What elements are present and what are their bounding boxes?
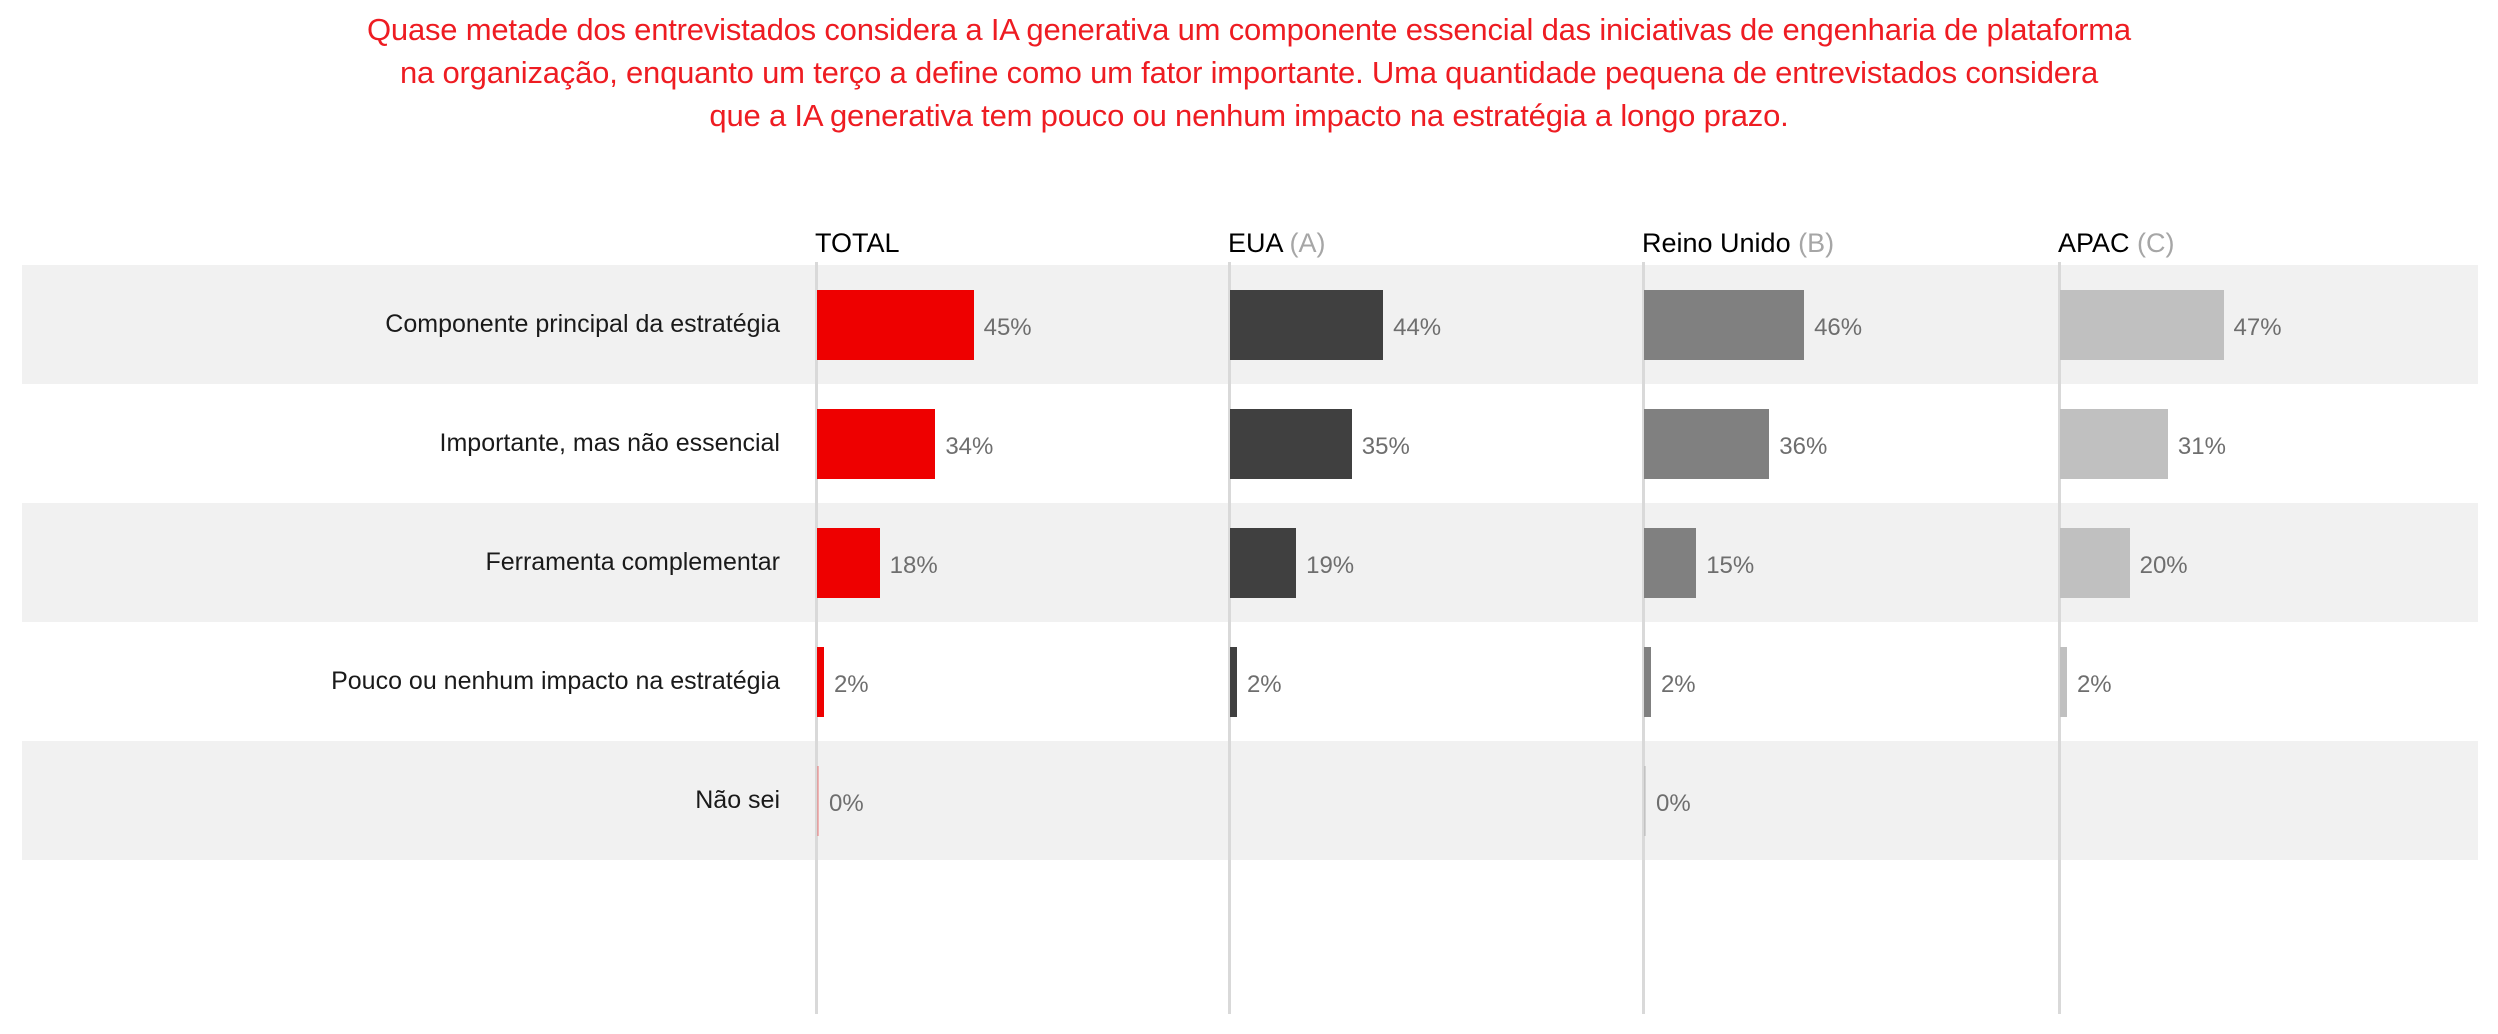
column-header-name: APAC: [2058, 228, 2130, 258]
column-header-name: TOTAL: [815, 228, 900, 258]
column-divider: [815, 262, 818, 1014]
bar-value-label: 0%: [1656, 790, 1691, 818]
bar[interactable]: [1644, 290, 1804, 360]
column-header-1: TOTAL: [815, 228, 900, 259]
bar-value-label: 2%: [1247, 671, 1282, 699]
column-header-code: (C): [2130, 228, 2175, 258]
row-label: Não sei: [40, 786, 780, 815]
bar[interactable]: [2060, 290, 2224, 360]
bar-value-label: 2%: [834, 671, 869, 699]
bar[interactable]: [817, 528, 880, 598]
bar[interactable]: [2060, 409, 2168, 479]
bar[interactable]: [817, 409, 935, 479]
column-header-code: (B): [1791, 228, 1835, 258]
bar[interactable]: [817, 647, 824, 717]
column-header-4: APAC (C): [2058, 228, 2175, 259]
bar[interactable]: [1230, 409, 1352, 479]
bar[interactable]: [2060, 528, 2130, 598]
bar[interactable]: [1230, 528, 1296, 598]
bar-value-label: 19%: [1306, 552, 1354, 580]
bar-value-label: 46%: [1814, 314, 1862, 342]
column-divider: [1642, 262, 1645, 1014]
bar[interactable]: [1644, 528, 1696, 598]
row-label: Ferramenta complementar: [40, 548, 780, 577]
column-header-code: (A): [1282, 228, 1326, 258]
bar[interactable]: [1644, 647, 1651, 717]
column-header-name: EUA: [1228, 228, 1282, 258]
column-header-name: Reino Unido: [1642, 228, 1791, 258]
row-label: Componente principal da estratégia: [40, 310, 780, 339]
chart-plot-area: TOTALEUA (A)Reino Unido (B)APAC (C)Compo…: [0, 0, 2498, 1034]
bar-value-label: 34%: [945, 433, 993, 461]
bar[interactable]: [817, 766, 819, 836]
column-divider: [2058, 262, 2061, 1014]
bar-value-label: 47%: [2234, 314, 2282, 342]
bar[interactable]: [1230, 290, 1383, 360]
bar[interactable]: [1644, 409, 1769, 479]
bar-value-label: 35%: [1362, 433, 1410, 461]
bar-value-label: 0%: [829, 790, 864, 818]
bar-value-label: 2%: [1661, 671, 1696, 699]
column-header-2: EUA (A): [1228, 228, 1326, 259]
bar-value-label: 31%: [2178, 433, 2226, 461]
bar-value-label: 18%: [890, 552, 938, 580]
column-divider: [1228, 262, 1231, 1014]
bar[interactable]: [1230, 647, 1237, 717]
row-label: Pouco ou nenhum impacto na estratégia: [40, 667, 780, 696]
row-label: Importante, mas não essencial: [40, 429, 780, 458]
column-header-3: Reino Unido (B): [1642, 228, 1834, 259]
bar-value-label: 36%: [1779, 433, 1827, 461]
bar[interactable]: [817, 290, 974, 360]
bar[interactable]: [2060, 647, 2067, 717]
bar[interactable]: [1644, 766, 1646, 836]
bar-value-label: 45%: [984, 314, 1032, 342]
bar-value-label: 44%: [1393, 314, 1441, 342]
bar-value-label: 2%: [2077, 671, 2112, 699]
bar-value-label: 15%: [1706, 552, 1754, 580]
bar-value-label: 20%: [2140, 552, 2188, 580]
